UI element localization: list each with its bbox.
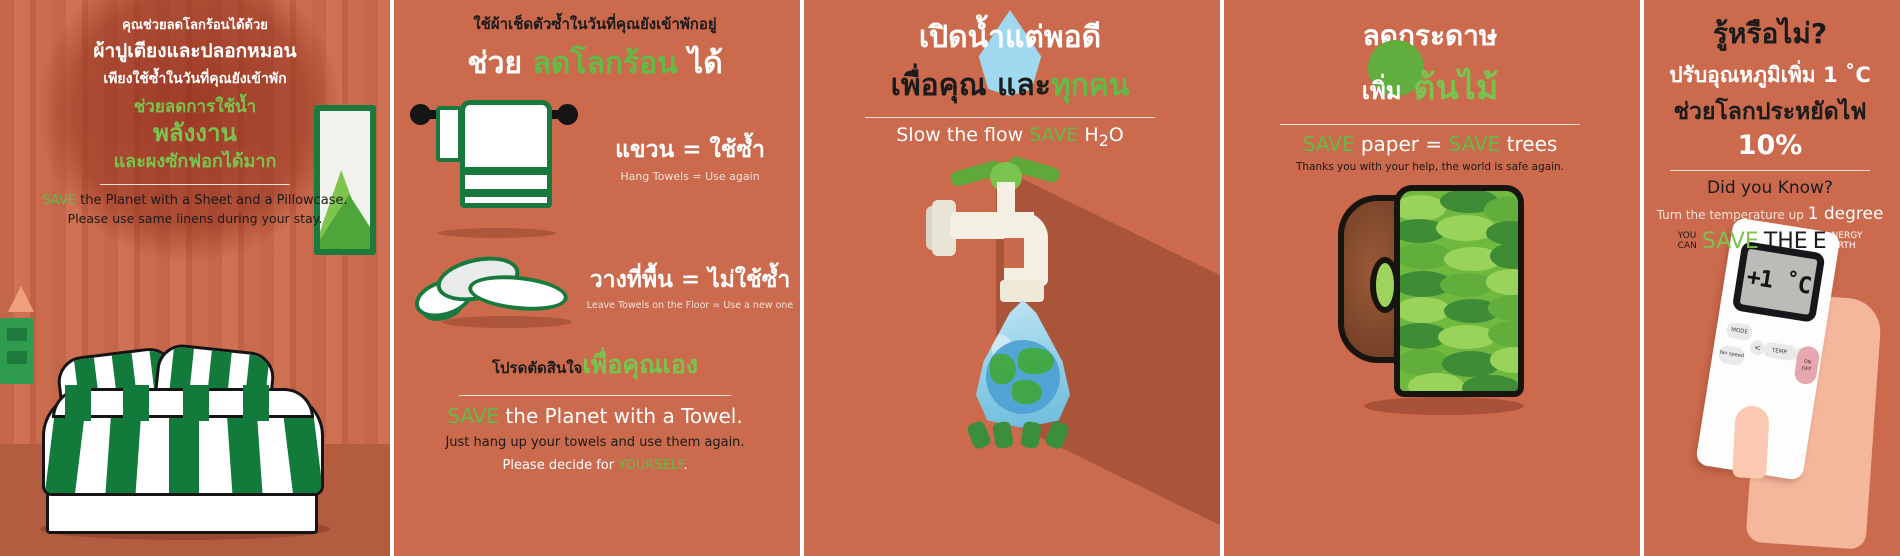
towels-rule-2: วางที่พื้น = ไม่ใช้ซ้ำ Leave Towels on t…	[582, 262, 798, 311]
towels-rule2-en: Leave Towels on the Floor = Use a new on…	[582, 300, 798, 311]
bed-illustration	[34, 330, 334, 540]
towels-rule2-th: วางที่พื้น = ไม่ใช้ซ้ำ	[582, 262, 798, 298]
energy-head-line2: ปรับอุณหภูมิเพิ่ม 1 ˚C	[1650, 59, 1890, 92]
towels-foot-th-a: โปรดตัดสินใจ	[492, 359, 582, 377]
water-head-c: แต่พอดี	[1005, 20, 1101, 55]
linens-head-line2: ผ้าปูเตียงและปลอกหมอน	[26, 36, 364, 66]
linens-en-line1: SAVE the Planet with a Sheet and a Pillo…	[26, 193, 364, 208]
towel-stripe	[465, 167, 547, 175]
towels-foot-th: โปรดตัดสินใจเพื่อคุณเอง	[406, 345, 784, 385]
supporting-hands-icon	[970, 422, 1076, 450]
lamp-icon	[8, 286, 34, 312]
arth-word: ARTH	[1832, 242, 1863, 251]
faucet-illustration	[800, 160, 1220, 556]
towel-large	[460, 100, 552, 208]
panel-water: เปิดน้ำแต่พอดี เพื่อคุณ และทุกคน Slow th…	[800, 0, 1220, 556]
towels-foot-en1: SAVE the Planet with a Towel.	[406, 404, 784, 428]
continent	[990, 354, 1016, 384]
floor-towel-icon	[408, 250, 583, 330]
eco-infographic-poster: คุณช่วยลดโลกร้อนได้ด้วย ผ้าปูเตียงและปลอ…	[0, 0, 1900, 556]
energy-en2-b: 1 degree	[1808, 204, 1884, 224]
top-sheet	[52, 388, 314, 418]
foliage-blob	[1484, 197, 1524, 223]
energy-head-line3: ช่วยโลกประหยัดไฟ 10%	[1650, 94, 1890, 161]
foliage-blob	[1394, 195, 1446, 221]
off-label: OFF	[1801, 365, 1812, 372]
panel-separator-4	[1640, 0, 1644, 556]
foliage-blob	[1462, 375, 1520, 397]
towels-foot-en1-rest: the Planet with a Towel.	[499, 404, 743, 428]
towels-foot-en2: Just hang up your towels and use them ag…	[406, 435, 784, 450]
remote-display-value: +1 ˚C	[1745, 264, 1813, 300]
foliage-blob	[1408, 373, 1464, 397]
towels-foot-en3-c: .	[683, 458, 687, 473]
sheet-stripe	[65, 385, 91, 421]
hand	[1044, 420, 1070, 451]
towels-foot-th-b: เพื่อคุณเอง	[582, 350, 698, 379]
towels-head-line2: ช่วย ลดโลกร้อน ได้	[408, 40, 782, 87]
sheet-stripe	[243, 385, 269, 421]
save-word: SAVE	[1702, 229, 1759, 254]
towels-head-c: ได้	[678, 46, 723, 81]
divider-rule	[1670, 170, 1870, 171]
sheet-stripe	[183, 385, 209, 421]
water-en-b: H	[1078, 124, 1098, 146]
towels-head-line1: ใช้ผ้าเช็ดตัวซ้ำในวันที่คุณยังเข้าพักอยู…	[408, 12, 782, 36]
panel-linens: คุณช่วยลดโลกร้อนได้ด้วย ผ้าปูเตียงและปลอ…	[0, 0, 390, 556]
towel-stripe	[465, 189, 547, 197]
paper-head2-b: ต้นไม้	[1413, 68, 1498, 108]
linens-head-line3: เพียงใช้ซ้ำในวันที่คุณยังเข้าพัก	[26, 68, 364, 90]
index-finger	[1732, 405, 1770, 479]
foliage-blob	[1438, 325, 1496, 349]
panel-separator-2	[800, 0, 804, 556]
towels-head-a: ช่วย	[467, 46, 532, 81]
floor-towel-shadow	[442, 316, 572, 328]
water-head2-a: เพื่อคุณ และ	[891, 68, 1051, 103]
hand	[1020, 421, 1042, 449]
panel-paper: ลดกระดาษ เพิ่ม ต้นไม้ SAVE paper = SAVE …	[1220, 0, 1640, 556]
water-head-line1: เปิดน้ำแต่พอดี	[814, 14, 1206, 61]
linens-head-line5: พลังงาน	[26, 121, 364, 146]
save-word: SAVE	[447, 404, 499, 428]
letter-e: E	[1813, 229, 1827, 254]
save-word: SAVE	[42, 193, 76, 208]
panel-towels: ใช้ผ้าเช็ดตัวซ้ำในวันที่คุณยังเข้าพักอยู…	[390, 0, 800, 556]
water-headline-block: เปิดน้ำแต่พอดี เพื่อคุณ และทุกคน Slow th…	[800, 0, 1220, 150]
towels-foot-en3: Please decide for YOURSELF.	[406, 458, 784, 473]
continent	[1018, 348, 1054, 374]
towels-rule1-en: Hang Towels = Use again	[585, 170, 795, 183]
linens-en-line1-rest: the Planet with a Sheet and a Pillowcase…	[76, 193, 348, 208]
drawer-bottom	[7, 351, 27, 364]
paper-en-d: trees	[1500, 132, 1557, 156]
faucet-nozzle	[1000, 280, 1044, 302]
towels-head-b: ลดโลกร้อน	[533, 46, 678, 81]
foliage-blob	[1486, 269, 1524, 295]
water-head-line2: เพื่อคุณ และทุกคน	[814, 62, 1206, 109]
linens-head-line6: และผงซักฟอกได้มาก	[26, 146, 364, 175]
paper-head-line2: เพิ่ม ต้นไม้	[1234, 60, 1626, 114]
energy-headline-block: รู้หรือไม่? ปรับอุณหภูมิเพิ่ม 1 ˚C ช่วยโ…	[1640, 0, 1900, 254]
energy-head3-a: ช่วยโลกประหยัดไฟ	[1673, 99, 1866, 125]
paper-en-line2: Thanks you with your help, the world is …	[1234, 161, 1626, 173]
paper-head2-a: เพิ่ม	[1362, 77, 1402, 105]
drawer-top	[7, 328, 27, 341]
hanging-towel-icon	[414, 96, 574, 216]
panel-separator-3	[1220, 0, 1224, 556]
linens-head-line1: คุณช่วยลดโลกร้อนได้ด้วย	[26, 14, 364, 35]
water-en-c: O	[1109, 124, 1124, 146]
water-head-b: น้ำ	[968, 20, 1005, 55]
you-can-stack: YOU CAN	[1678, 232, 1697, 251]
water-en-line: Slow the flow SAVE H2O	[814, 124, 1206, 150]
towels-foot-en3-a: Please decide for	[503, 458, 619, 473]
save-word-2: SAVE	[1449, 132, 1501, 156]
towels-rule-1: แขวน = ใช้ซ้ำ Hang Towels = Use again	[585, 132, 795, 183]
foliage-blob	[1396, 297, 1450, 323]
divider-rule	[865, 117, 1155, 118]
energy-en2-a: Turn the temperature up	[1657, 208, 1808, 222]
mode-button[interactable]: MODE	[1725, 321, 1753, 341]
linens-head-line4: ช่วยลดการใช้น้ำ	[26, 93, 364, 120]
yourself-word: YOURSELF	[618, 458, 683, 473]
temp-label-button[interactable]: TEMP.	[1764, 342, 1796, 362]
towels-headline-block: ใช้ผ้าเช็ดตัวซ้ำในวันที่คุณยังเข้าพักอยู…	[390, 0, 800, 87]
save-word: SAVE	[1029, 124, 1078, 146]
divider-rule	[459, 395, 731, 396]
divider-rule	[1280, 124, 1580, 125]
panel-separator-1	[390, 0, 394, 556]
water-en-sub: 2	[1099, 131, 1109, 150]
the-word: THE	[1764, 229, 1808, 254]
paper-headline-block: ลดกระดาษ เพิ่ม ต้นไม้ SAVE paper = SAVE …	[1220, 0, 1640, 173]
earth-globe-icon	[986, 340, 1060, 414]
panel-energy: รู้หรือไม่? ปรับอุณหภูมิเพิ่ม 1 ˚C ช่วยโ…	[1640, 0, 1900, 556]
energy-percent: 10%	[1738, 130, 1803, 161]
energy-en-line1: Did you Know?	[1650, 178, 1890, 198]
continent	[1012, 380, 1042, 404]
toilet-paper-tree-icon	[1338, 185, 1538, 415]
fan-speed-button[interactable]: fan speed	[1717, 344, 1745, 366]
hand	[992, 421, 1014, 449]
towel-shadow	[438, 228, 556, 238]
paper-en-b: paper =	[1354, 132, 1448, 156]
towel-small	[436, 106, 462, 162]
sheet-stripe	[123, 385, 149, 421]
paper-head-line1: ลดกระดาษ	[1234, 14, 1626, 58]
foliage-blob	[1488, 321, 1524, 347]
towel-bar-knob-right	[557, 104, 578, 125]
nergy-arth-stack: NERGY ARTH	[1832, 232, 1863, 251]
linens-en-line2: Please use same linens during your stay.	[26, 211, 364, 226]
roll-paper-foliage	[1394, 185, 1524, 397]
can-word: CAN	[1678, 242, 1697, 251]
faucet-bend-inner	[1004, 238, 1024, 268]
foliage-blob	[1486, 221, 1524, 245]
towels-footer-block: โปรดตัดสินใจเพื่อคุณเอง SAVE the Planet …	[390, 345, 800, 473]
roll-shadow	[1364, 397, 1524, 415]
water-head-a: เปิด	[919, 20, 968, 55]
divider-rule	[100, 184, 290, 185]
save-the-energy-earth-lockup: YOU CAN SAVE THE E NERGY ARTH	[1650, 229, 1890, 254]
save-word: SAVE	[1303, 132, 1355, 156]
towels-rule1-th: แขวน = ใช้ซ้ำ	[585, 132, 795, 168]
nightstand-icon	[0, 318, 34, 384]
linens-headline-block: คุณช่วยลดโลกร้อนได้ด้วย ผ้าปูเตียงและปลอ…	[0, 0, 390, 226]
hand	[966, 420, 992, 451]
water-head2-b: ทุกคน	[1051, 68, 1130, 103]
on-label: ON	[1803, 358, 1812, 365]
towel-fold-3	[466, 271, 569, 315]
remote-and-hand-illustration: +1 ˚C MODE fan speed < TEMP. > ON OFF	[1668, 210, 1898, 556]
energy-en-line2: Turn the temperature up 1 degree	[1650, 204, 1890, 224]
water-en-a: Slow the flow	[896, 124, 1029, 146]
towel-bar-knob-left	[410, 104, 431, 125]
energy-head-line1: รู้หรือไม่?	[1650, 12, 1890, 56]
paper-en-line1: SAVE paper = SAVE trees	[1234, 132, 1626, 156]
